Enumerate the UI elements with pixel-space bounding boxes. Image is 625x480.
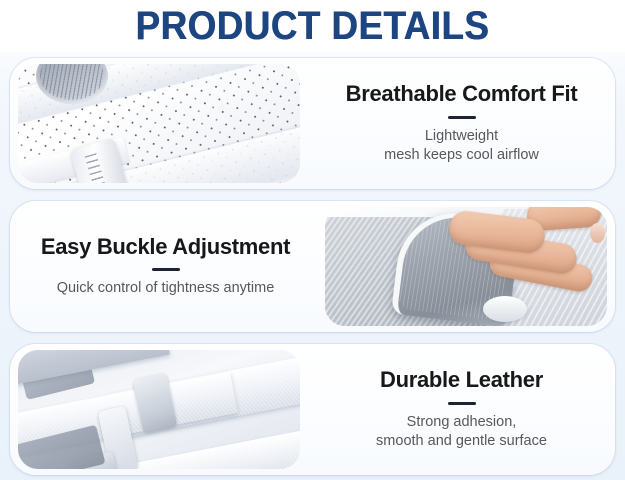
feature-text-block: Easy Buckle Adjustment Quick control of …: [10, 234, 317, 299]
fingernail: [590, 223, 605, 243]
page-title: PRODUCT DETAILS: [136, 6, 490, 46]
feature-subtext: Quick control of tightness anytime: [57, 279, 275, 299]
hand-peeling-velcro-flap-photo: [325, 207, 607, 326]
feature-card-easy-buckle-adjustment: Easy Buckle Adjustment Quick control of …: [10, 201, 615, 332]
leather-straps-buckle-photo: [18, 350, 300, 469]
feature-text-block: Breathable Comfort Fit Lightweight mesh …: [308, 81, 615, 165]
feature-card-breathable-comfort-fit: Breathable Comfort Fit Lightweight mesh …: [10, 58, 615, 189]
velcro-tab-nub: [483, 296, 527, 322]
feature-heading: Durable Leather: [380, 367, 543, 392]
heading-divider: [152, 268, 180, 271]
feature-subtext: Strong adhesion, smooth and gentle surfa…: [376, 413, 547, 452]
feature-heading: Easy Buckle Adjustment: [41, 234, 290, 259]
perforated-mesh-fabric-photo: [18, 64, 300, 183]
feature-card-list: Breathable Comfort Fit Lightweight mesh …: [0, 52, 625, 475]
heading-divider: [448, 116, 476, 119]
feature-card-durable-leather: Durable Leather Strong adhesion, smooth …: [10, 344, 615, 475]
feature-text-block: Durable Leather Strong adhesion, smooth …: [308, 367, 615, 451]
hand-illustration: [443, 207, 607, 293]
page-header: PRODUCT DETAILS: [0, 0, 625, 52]
feature-heading: Breathable Comfort Fit: [346, 81, 578, 106]
feature-subtext: Lightweight mesh keeps cool airflow: [384, 127, 539, 166]
heading-divider: [448, 402, 476, 405]
